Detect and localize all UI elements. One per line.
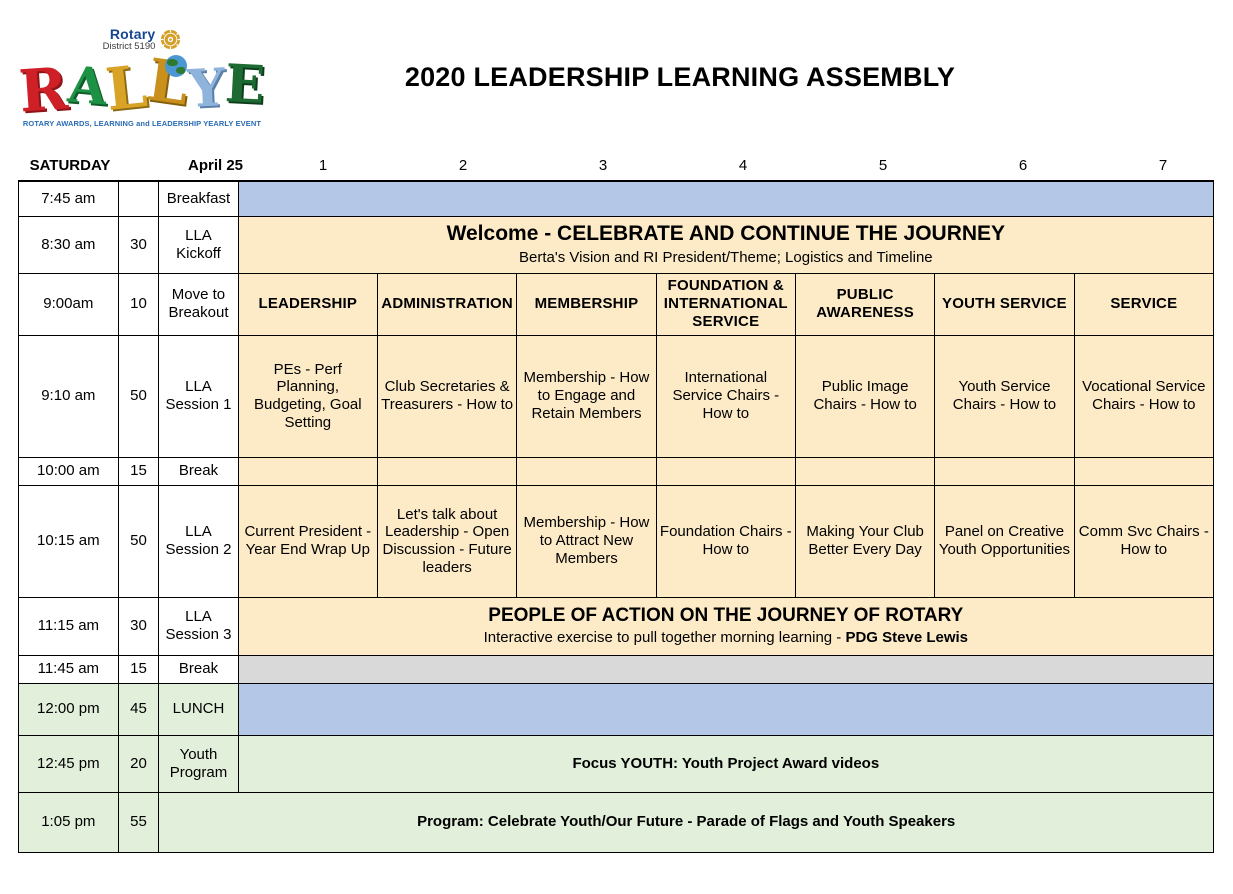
column-number-4: 4 [673,157,813,174]
column-number-6: 6 [953,157,1093,174]
track-header-membership: MEMBERSHIP [517,273,656,335]
break-1-cell-4 [656,457,795,485]
break-1-cell-1 [238,457,377,485]
column-number-1: 1 [253,157,393,174]
row-label: Break [159,655,238,683]
session-1-cell-4: International Service Chairs - How to [656,335,795,457]
row-duration: 30 [118,216,159,273]
session-3-subtitle-plain: Interactive exercise to pull together mo… [484,629,846,646]
rotary-district-text: Rotary District 5190 [103,27,156,52]
row-time: 8:30 am [19,216,119,273]
table-row-lunch: 12:00 pm 45 LUNCH [19,683,1214,735]
row-duration: 45 [118,683,159,735]
break-1-cell-7 [1074,457,1213,485]
break-2-span-cell [238,655,1213,683]
session-2-cell-6: Panel on Creative Youth Opportunities [935,485,1074,597]
table-row-track-headers: 9:00am 10 Move to Breakout LEADERSHIP AD… [19,273,1214,335]
break-1-cell-3 [517,457,656,485]
table-row-breakfast: 7:45 am Breakfast [19,181,1214,216]
session-2-cell-7: Comm Svc Chairs - How to [1074,485,1213,597]
row-time: 7:45 am [19,181,119,216]
row-duration: 15 [118,457,159,485]
session-3-banner-cell: PEOPLE OF ACTION ON THE JOURNEY OF ROTAR… [238,597,1213,655]
table-row-program: 1:05 pm 55 Program: Celebrate Youth/Our … [19,792,1214,852]
row-duration: 55 [118,792,159,852]
row-time: 12:45 pm [19,735,119,792]
session-2-cell-5: Making Your Club Better Every Day [795,485,934,597]
page-title: 2020 LEADERSHIP LEARNING ASSEMBLY [300,62,1060,93]
table-row-break-1: 10:00 am 15 Break [19,457,1214,485]
track-header-public-awareness: PUBLIC AWARENESS [795,273,934,335]
row-duration: 50 [118,485,159,597]
table-row-youth-program: 12:45 pm 20 Youth Program Focus YOUTH: Y… [19,735,1214,792]
breakfast-span-cell [238,181,1213,216]
row-duration: 10 [118,273,159,335]
session-2-cell-4: Foundation Chairs - How to [656,485,795,597]
row-label: Move to Breakout [159,273,238,335]
break-1-cell-5 [795,457,934,485]
row-duration: 30 [118,597,159,655]
row-label: Youth Program [159,735,238,792]
row-time: 10:15 am [19,485,119,597]
row-time: 9:10 am [19,335,119,457]
row-time: 10:00 am [19,457,119,485]
row-duration: 50 [118,335,159,457]
row-time: 11:15 am [19,597,119,655]
row-duration: 20 [118,735,159,792]
row-duration: 15 [118,655,159,683]
table-row-kickoff: 8:30 am 30 LLA Kickoff Welcome - CELEBRA… [19,216,1214,273]
track-header-foundation: FOUNDATION & INTERNATIONAL SERVICE [656,273,795,335]
break-1-cell-6 [935,457,1074,485]
program-banner-cell: Program: Celebrate Youth/Our Future - Pa… [159,792,1214,852]
district-number: District 5190 [103,42,156,52]
session-1-cell-7: Vocational Service Chairs - How to [1074,335,1213,457]
kickoff-banner-title: Welcome - CELEBRATE AND CONTINUE THE JOU… [242,221,1210,247]
row-label: LLA Kickoff [159,216,238,273]
rotary-wordmark: Rotary [103,27,156,41]
row-label: LLA Session 2 [159,485,238,597]
row-label: LLA Session 3 [159,597,238,655]
page-header: Rotary District 5190 [0,0,1233,150]
schedule-table: 7:45 am Breakfast 8:30 am 30 LLA Kickoff… [18,180,1214,853]
break-1-cell-2 [377,457,516,485]
row-label: LLA Session 1 [159,335,238,457]
row-label: LUNCH [159,683,238,735]
session-3-subtitle-speaker: PDG Steve Lewis [845,629,968,646]
session-3-banner-title: PEOPLE OF ACTION ON THE JOURNEY OF ROTAR… [242,605,1210,627]
session-1-cell-6: Youth Service Chairs - How to [935,335,1074,457]
youth-banner-cell: Focus YOUTH: Youth Project Award videos [238,735,1213,792]
kickoff-banner-subtitle: Berta's Vision and RI President/Theme; L… [242,248,1210,268]
lunch-span-cell [238,683,1213,735]
session-1-cell-2: Club Secretaries & Treasurers - How to [377,335,516,457]
session-3-banner-subtitle: Interactive exercise to pull together mo… [242,628,1210,648]
row-label: Breakfast [159,181,238,216]
rallye-letter-a: A [65,56,109,115]
track-header-service: SERVICE [1074,273,1213,335]
row-label: Break [159,457,238,485]
track-header-leadership: LEADERSHIP [238,273,377,335]
table-row-session-1: 9:10 am 50 LLA Session 1 PEs - Perf Plan… [19,335,1214,457]
session-2-cell-3: Membership - How to Attract New Members [517,485,656,597]
session-1-cell-3: Membership - How to Engage and Retain Me… [517,335,656,457]
session-1-cell-5: Public Image Chairs - How to [795,335,934,457]
column-header-row: SATURDAY April 25 1 2 3 4 5 6 7 [0,150,1233,180]
row-duration [118,181,159,216]
globe-icon [165,55,187,77]
rallye-letter-e: E [224,56,267,114]
table-row-break-2: 11:45 am 15 Break [19,655,1214,683]
rallye-letter-y: Y [187,60,227,118]
row-time: 12:00 pm [19,683,119,735]
table-row-session-2: 10:15 am 50 LLA Session 2 Current Presid… [19,485,1214,597]
track-header-administration: ADMINISTRATION [377,273,516,335]
row-time: 9:00am [19,273,119,335]
session-1-cell-1: PEs - Perf Planning, Budgeting, Goal Set… [238,335,377,457]
day-label: SATURDAY [0,157,140,174]
track-header-youth-service: YOUTH SERVICE [935,273,1074,335]
session-2-cell-2: Let's talk about Leadership - Open Discu… [377,485,516,597]
rotary-district-lockup: Rotary District 5190 [22,26,262,52]
column-number-7: 7 [1093,157,1233,174]
kickoff-banner-cell: Welcome - CELEBRATE AND CONTINUE THE JOU… [238,216,1213,273]
date-label: April 25 [178,157,253,174]
table-row-session-3: 11:15 am 30 LLA Session 3 PEOPLE OF ACTI… [19,597,1214,655]
rallye-letter-r: R [18,60,70,119]
row-time: 11:45 am [19,655,119,683]
row-time: 1:05 pm [19,792,119,852]
column-number-3: 3 [533,157,673,174]
column-number-2: 2 [393,157,533,174]
session-2-cell-1: Current President - Year End Wrap Up [238,485,377,597]
rallye-logo: Rotary District 5190 [22,26,262,138]
rallye-wordmark: R A L L Y E [22,54,262,116]
column-number-5: 5 [813,157,953,174]
